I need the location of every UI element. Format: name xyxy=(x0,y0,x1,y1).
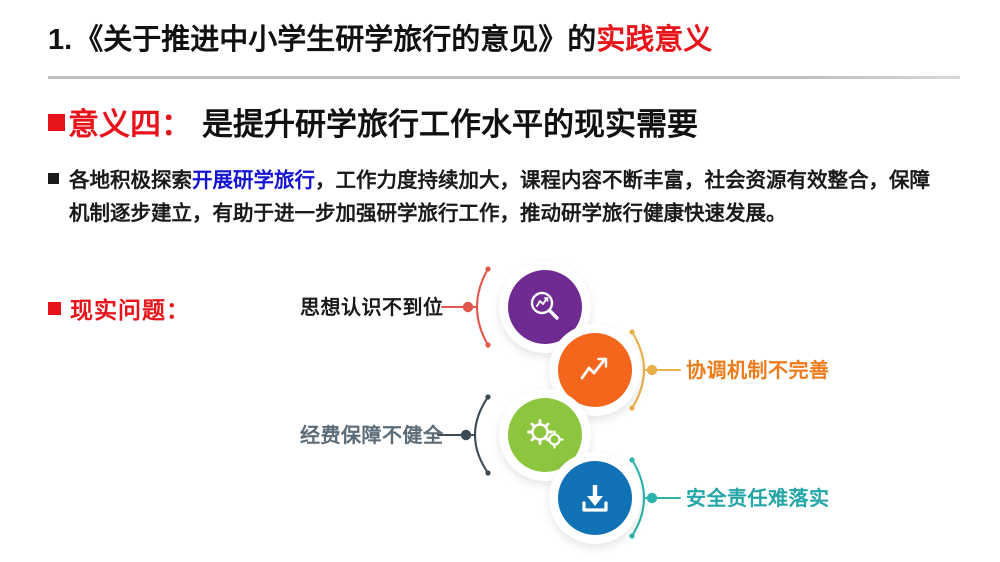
connector-node-4 xyxy=(629,457,680,538)
connector-node-3 xyxy=(438,394,491,475)
download-icon xyxy=(575,478,615,518)
magnifier-chart-icon xyxy=(525,287,565,327)
diagram-node-2-label: 协调机制不完善 xyxy=(686,361,830,381)
section-heading: 意义四： 是提升研学旅行工作水平的现实需要 xyxy=(48,99,698,144)
diagram-node-3[interactable] xyxy=(508,398,582,472)
heading-text: 是提升研学旅行工作水平的现实需要 xyxy=(202,99,698,144)
title-number: 1. xyxy=(48,24,72,57)
paragraph-text: 各地积极探索开展研学旅行，工作力度持续加大，课程内容不断丰富，社会资源有效整合，… xyxy=(69,164,948,230)
trend-up-icon xyxy=(575,350,615,390)
title-divider xyxy=(48,76,960,79)
slide-canvas: 1. 《关于推进中小学生研学旅行的意见》的 实践意义 意义四： 是提升研学旅行工… xyxy=(0,0,1000,562)
diagram-node-4-label: 安全责任难落实 xyxy=(686,489,830,509)
connector-node-1 xyxy=(442,266,491,347)
title-main: 《关于推进中小学生研学旅行的意见》的 xyxy=(74,16,596,58)
diagram-node-1-label: 思想认识不到位 xyxy=(300,298,444,318)
paragraph-highlight: 开展研学旅行 xyxy=(192,169,315,192)
issues-diagram: 思想认识不到位 协调机制不完善 xyxy=(280,258,980,558)
title-emphasis: 实践意义 xyxy=(596,16,712,58)
square-bullet-icon xyxy=(48,302,61,315)
diagram-node-3-label: 经费保障不健全 xyxy=(300,426,444,446)
diagram-node-1[interactable] xyxy=(508,270,582,344)
paragraph-lead: 各地积极探索 xyxy=(69,169,192,192)
diagram-node-2[interactable] xyxy=(558,333,632,407)
page-title: 1. 《关于推进中小学生研学旅行的意见》的 实践意义 xyxy=(48,16,712,58)
heading-label: 意义四： xyxy=(68,99,192,144)
issue-label-text: 现实问题： xyxy=(70,291,190,325)
diagram-node-4[interactable] xyxy=(558,461,632,535)
gears-icon xyxy=(524,414,566,456)
square-bullet-icon xyxy=(48,173,59,184)
body-paragraph: 各地积极探索开展研学旅行，工作力度持续加大，课程内容不断丰富，社会资源有效整合，… xyxy=(48,164,948,230)
issue-label: 现实问题： xyxy=(48,291,190,325)
square-bullet-icon xyxy=(48,114,65,131)
connector-node-2 xyxy=(629,329,680,410)
